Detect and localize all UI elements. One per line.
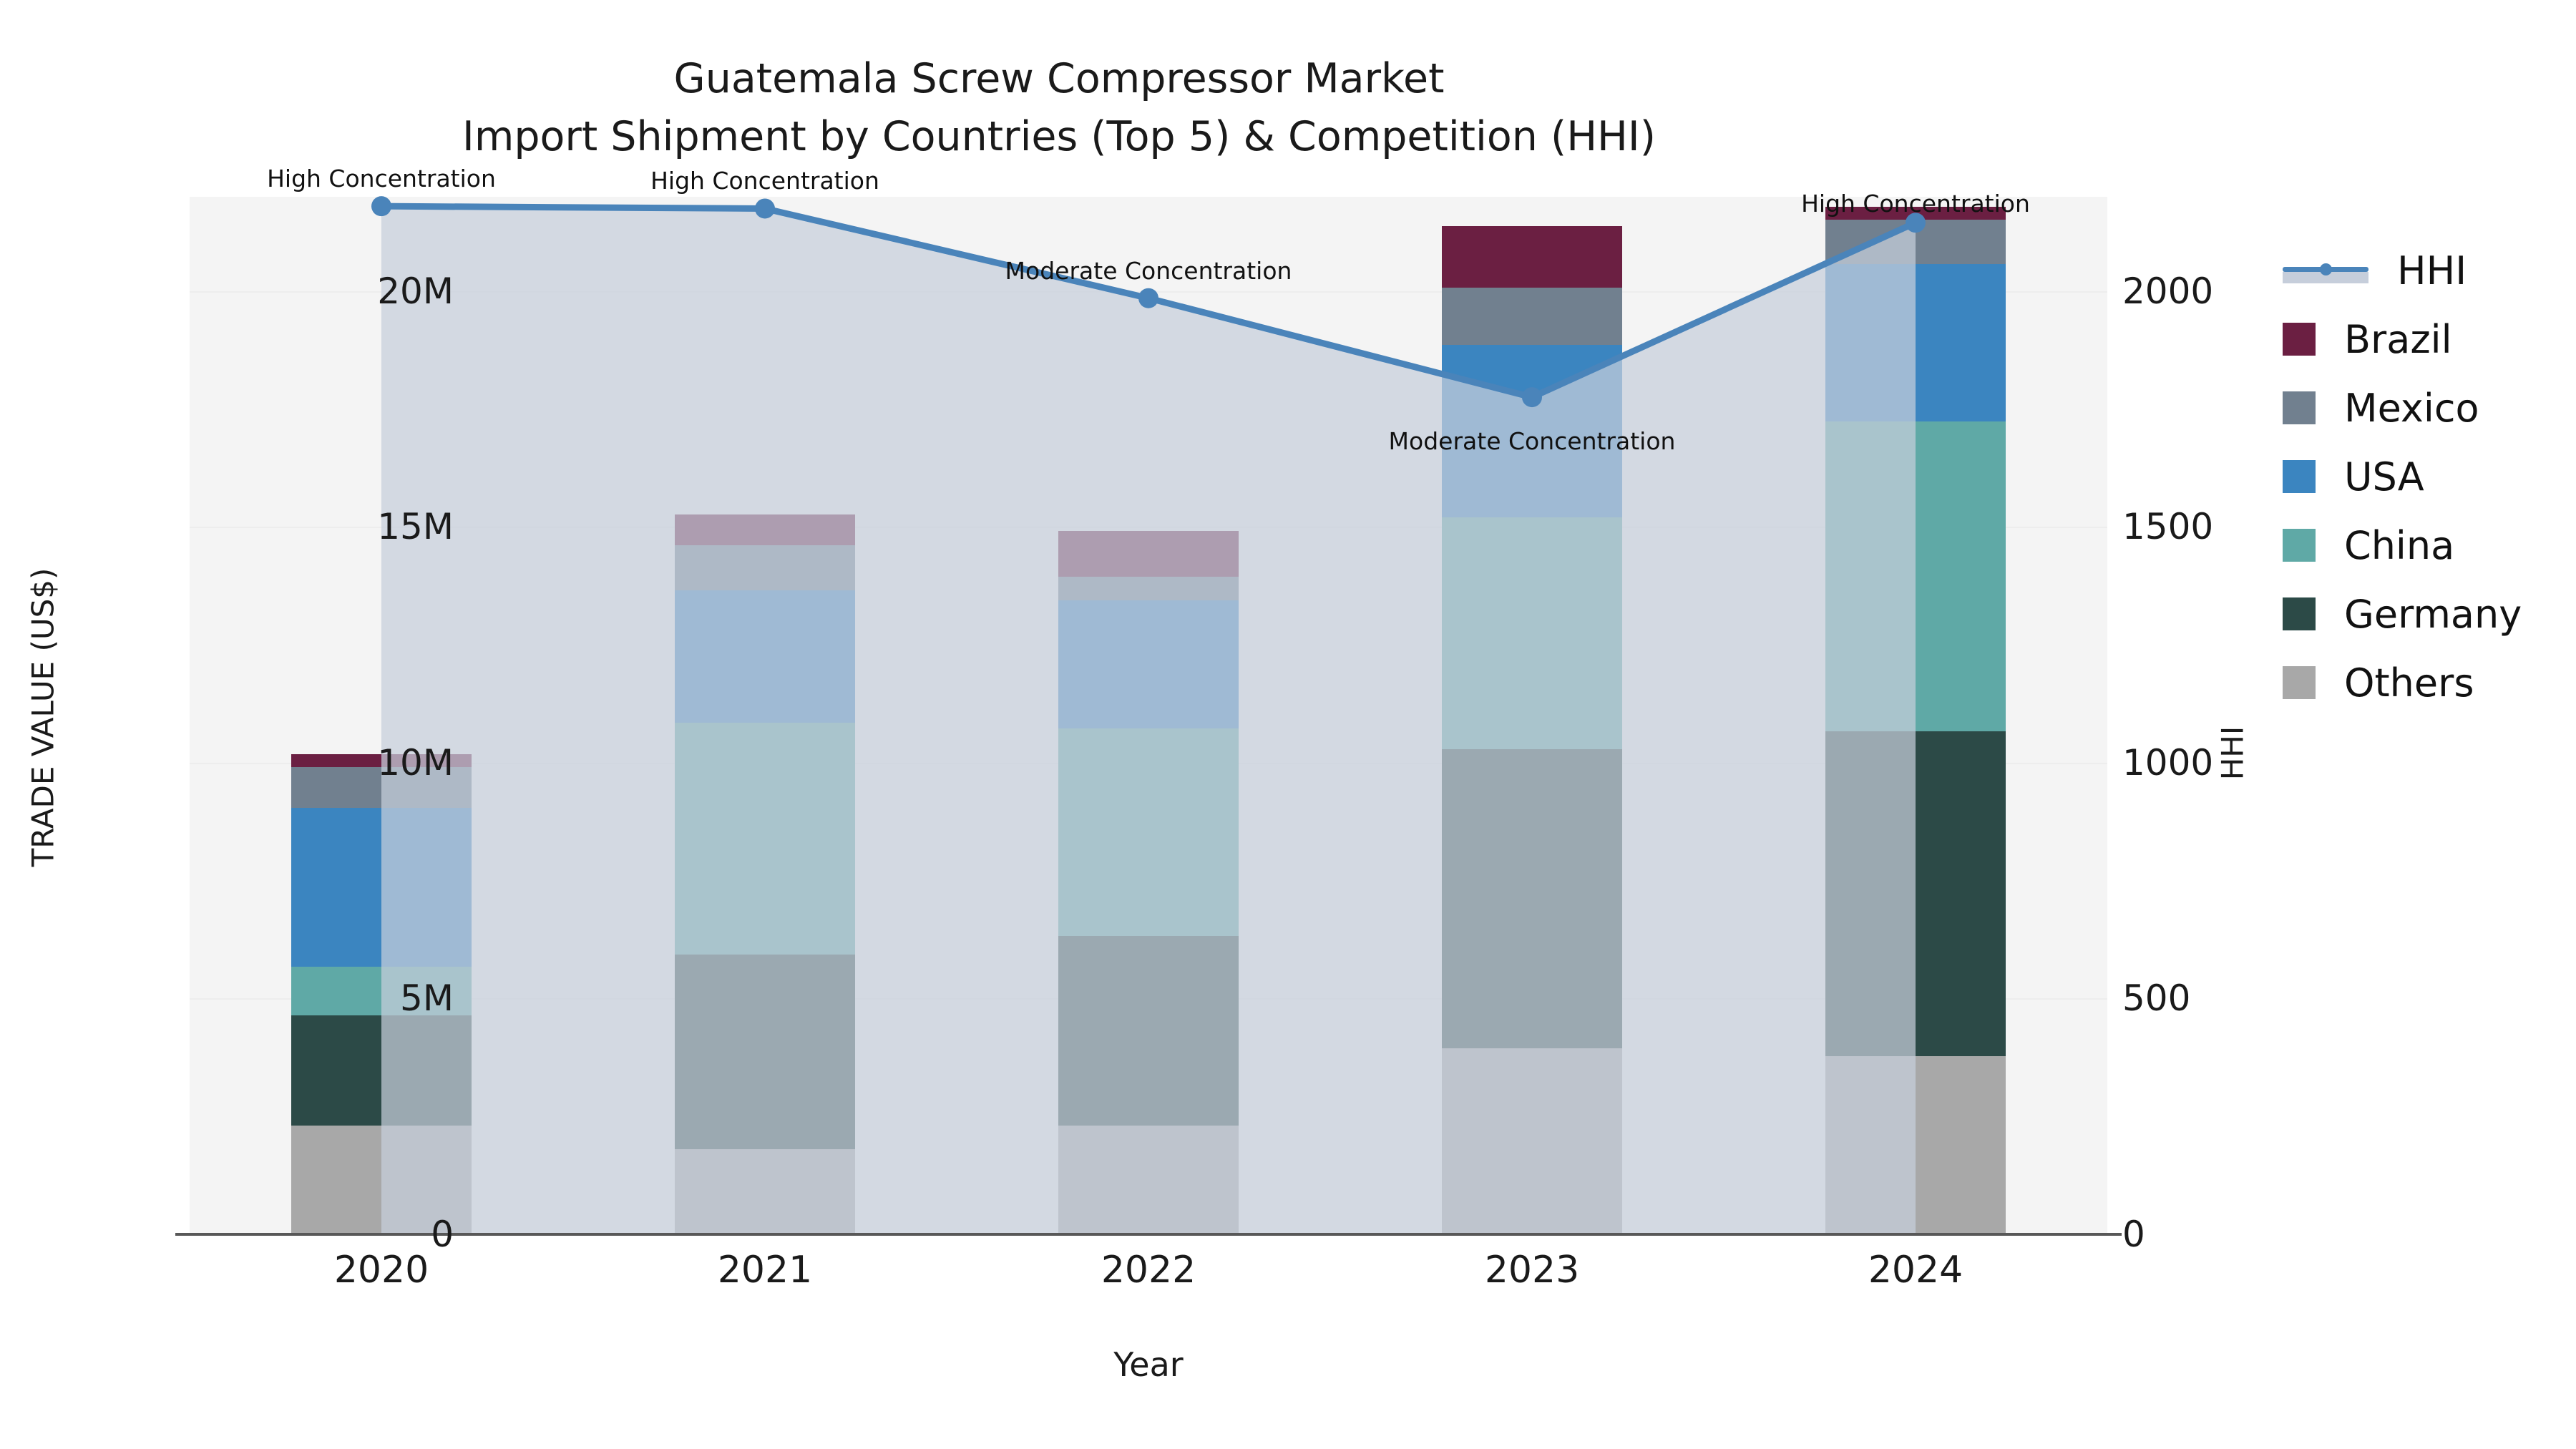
bar-segment-brazil-2021[interactable] (675, 514, 855, 545)
x-axis-label: Year (190, 1345, 2107, 1384)
bar-segment-china-2024[interactable] (1825, 421, 2006, 731)
legend-color-swatch-others (2283, 666, 2316, 699)
bar-segment-germany-2020[interactable] (291, 1015, 472, 1126)
bar-segment-mexico-2021[interactable] (675, 545, 855, 590)
legend-color-swatch-brazil (2283, 323, 2316, 356)
bar-group-2024[interactable] (1825, 197, 2006, 1234)
y-tick-left-5M: 5M (400, 977, 454, 1019)
legend-label-germany: Germany (2344, 592, 2522, 637)
chart-subtitle: Import Shipment by Countries (Top 5) & C… (0, 108, 2118, 166)
bar-segment-others-2024[interactable] (1825, 1056, 2006, 1234)
legend: HHIBrazilMexicoUSAChinaGermanyOthers (2283, 236, 2522, 717)
bar-group-2020[interactable] (291, 197, 472, 1234)
legend-item-china[interactable]: China (2283, 511, 2522, 580)
y-axis-label-right: HHI (2215, 646, 2250, 861)
bar-segment-brazil-2022[interactable] (1058, 531, 1239, 577)
legend-label-china: China (2344, 523, 2454, 568)
bar-group-2022[interactable] (1058, 197, 1239, 1234)
chart-canvas: Guatemala Screw Compressor Market Import… (0, 0, 2576, 1449)
y-tick-right-500: 500 (2122, 977, 2190, 1019)
y-axis-label-right-wrap: HHI (2217, 644, 2248, 859)
y-tick-left-15M: 15M (377, 506, 454, 547)
hhi-annotation-2020: High Concentration (267, 165, 496, 192)
bar-segment-china-2023[interactable] (1442, 517, 1622, 749)
legend-color-swatch-mexico (2283, 391, 2316, 424)
bar-segment-usa-2022[interactable] (1058, 600, 1239, 728)
legend-label-usa: USA (2344, 454, 2424, 499)
bar-segment-others-2021[interactable] (675, 1149, 855, 1234)
x-tick-2023: 2023 (1485, 1249, 1579, 1292)
y-axis-label-left: TRADE VALUE (US$) (26, 503, 61, 932)
y-tick-right-2000: 2000 (2122, 270, 2213, 312)
legend-item-mexico[interactable]: Mexico (2283, 374, 2522, 442)
legend-line-swatch-icon (2283, 254, 2368, 287)
bar-segment-china-2022[interactable] (1058, 728, 1239, 936)
legend-color-swatch-usa (2283, 460, 2316, 493)
chart-title-block: Guatemala Screw Compressor Market Import… (0, 50, 2118, 166)
legend-item-germany[interactable]: Germany (2283, 580, 2522, 648)
legend-label-mexico: Mexico (2344, 386, 2479, 431)
legend-color-swatch-china (2283, 529, 2316, 562)
bar-segment-mexico-2022[interactable] (1058, 577, 1239, 600)
bar-segment-germany-2022[interactable] (1058, 936, 1239, 1126)
y-tick-right-1000: 1000 (2122, 742, 2213, 784)
bar-segment-others-2023[interactable] (1442, 1048, 1622, 1234)
bar-segment-mexico-2024[interactable] (1825, 220, 2006, 263)
x-tick-2024: 2024 (1868, 1249, 1963, 1292)
y-tick-right-1500: 1500 (2122, 506, 2213, 547)
bar-segment-usa-2020[interactable] (291, 808, 472, 967)
bar-segment-brazil-2024[interactable] (1825, 207, 2006, 220)
legend-label-brazil: Brazil (2344, 317, 2452, 362)
bar-segment-germany-2024[interactable] (1825, 731, 2006, 1056)
bar-segment-germany-2023[interactable] (1442, 749, 1622, 1048)
bar-series-layer (190, 197, 2107, 1234)
legend-item-others[interactable]: Others (2283, 648, 2522, 717)
legend-item-hhi[interactable]: HHI (2283, 236, 2522, 305)
legend-marker-icon (2320, 263, 2332, 275)
bar-segment-usa-2021[interactable] (675, 590, 855, 723)
bar-segment-brazil-2023[interactable] (1442, 226, 1622, 288)
legend-item-usa[interactable]: USA (2283, 442, 2522, 511)
bar-segment-others-2022[interactable] (1058, 1126, 1239, 1234)
bar-segment-china-2021[interactable] (675, 723, 855, 955)
bar-segment-usa-2024[interactable] (1825, 264, 2006, 422)
y-tick-left-20M: 20M (377, 270, 454, 312)
x-tick-2021: 2021 (718, 1249, 812, 1292)
x-tick-2020: 2020 (334, 1249, 429, 1292)
y-tick-left-0: 0 (431, 1214, 454, 1255)
x-tick-2022: 2022 (1101, 1249, 1196, 1292)
legend-item-brazil[interactable]: Brazil (2283, 305, 2522, 374)
x-axis-line (175, 1233, 2122, 1236)
bar-group-2023[interactable] (1442, 197, 1622, 1234)
bar-segment-mexico-2023[interactable] (1442, 288, 1622, 345)
y-tick-left-10M: 10M (377, 742, 454, 784)
hhi-annotation-2021: High Concentration (650, 167, 879, 195)
chart-title: Guatemala Screw Compressor Market (0, 50, 2118, 108)
legend-label-hhi: HHI (2397, 248, 2467, 293)
y-tick-right-0: 0 (2122, 1214, 2145, 1255)
legend-label-others: Others (2344, 660, 2474, 706)
bar-segment-germany-2021[interactable] (675, 955, 855, 1149)
plot-area: High ConcentrationHigh ConcentrationMode… (190, 197, 2107, 1234)
legend-color-swatch-germany (2283, 597, 2316, 630)
bar-segment-usa-2023[interactable] (1442, 345, 1622, 517)
y-axis-label-left-wrap: TRADE VALUE (US$) (27, 501, 59, 930)
bar-group-2021[interactable] (675, 197, 855, 1234)
